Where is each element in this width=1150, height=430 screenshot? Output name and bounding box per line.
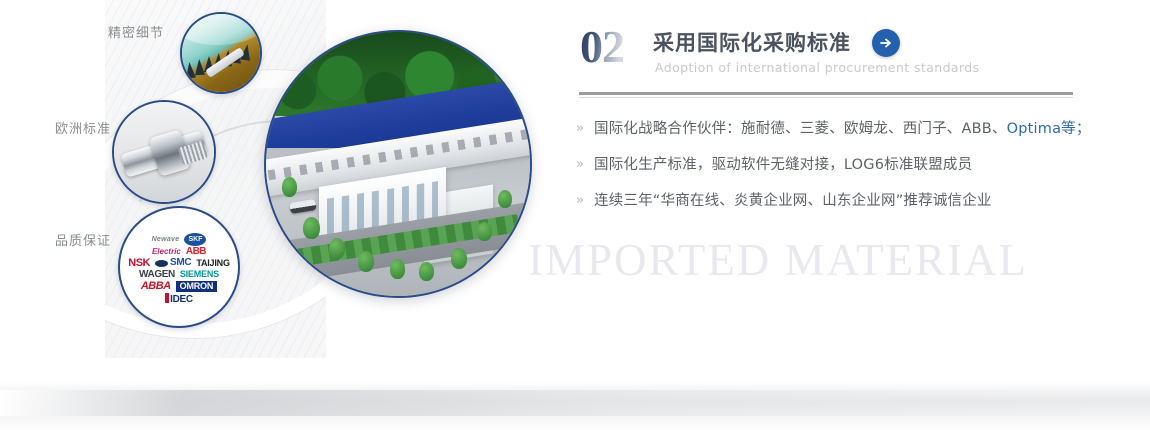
list-item: » 国际化生产标准，驱动软件无缝对接，LOG6标准联盟成员 [576, 154, 1096, 176]
european-standard-photo-circle [112, 100, 216, 204]
brand-logo-nsk: NSK [128, 258, 150, 269]
brand-logo-idec: IDEC [165, 293, 193, 305]
content-column: 02 采用国际化采购标准 Adoption of international p… [576, 0, 1136, 430]
label-quality-assurance: 品质保证 [55, 230, 111, 249]
list-item-highlight: Optima等； [1007, 121, 1091, 137]
arrow-right-icon[interactable] [872, 29, 900, 57]
smc-mark-icon [155, 260, 168, 267]
hero-tree [451, 248, 467, 269]
hero-tree [477, 222, 492, 241]
label-precision-detail: 精密细节 [108, 22, 164, 41]
brand-logo-smc: SMC [170, 258, 191, 268]
hero-tree [358, 251, 374, 272]
label-european-standard: 欧洲标准 [55, 118, 111, 137]
section-header: 02 采用国际化采购标准 Adoption of international p… [576, 24, 1096, 82]
brand-logo-electric: Electric [152, 248, 181, 256]
section-number: 02 [580, 24, 624, 70]
bullet-chevron-icon: » [576, 190, 594, 212]
brand-logo-abba: ABBA [141, 281, 171, 292]
watermark-text: IMPORTED MATERIAL [528, 234, 1148, 286]
list-item-lead: 国际化战略合作伙伴：施耐德、三菱、欧姆龙、西门子、ABB、 [594, 121, 1007, 137]
hero-tree [419, 262, 434, 281]
list-item-text: 国际化战略合作伙伴：施耐德、三菱、欧姆龙、西门子、ABB、Optima等； [594, 118, 1091, 140]
header-divider [579, 92, 1073, 98]
brand-logo-newave: Newave [152, 236, 180, 243]
list-item-text: 国际化生产标准，驱动软件无缝对接，LOG6标准联盟成员 [594, 154, 972, 176]
list-item: » 连续三年“华商在线、炎黄企业网、山东企业网”推荐诚信企业 [576, 190, 1096, 212]
hero-tree [282, 177, 297, 197]
list-item-text: 连续三年“华商在线、炎黄企业网、山东企业网”推荐诚信企业 [594, 190, 992, 212]
list-item: » 国际化战略合作伙伴：施耐德、三菱、欧姆龙、西门子、ABB、Optima等； [576, 118, 1096, 140]
brand-logo-abb: ABB [186, 247, 206, 257]
brand-logo-wagen: WAGEN [139, 270, 175, 280]
bullet-chevron-icon: » [576, 118, 594, 140]
section-title: 采用国际化采购标准 [653, 27, 851, 57]
brand-logo-omron: OMRON [176, 281, 218, 292]
brand-logo-skf: SKF [184, 233, 206, 246]
promo-banner: Newave SKF Electric ABB NSK SMC TAIJING … [0, 0, 1150, 430]
bullet-chevron-icon: » [576, 154, 594, 176]
brand-logo-siemens: SIEMENS [180, 270, 219, 279]
brand-logo-taijing: TAIJING [196, 259, 229, 268]
brand-logo-grid: Newave SKF Electric ABB NSK SMC TAIJING … [120, 208, 238, 326]
hero-tree [303, 217, 320, 239]
section-subtitle: Adoption of international procurement st… [655, 60, 980, 75]
factory-photo-circle [264, 30, 532, 298]
bottom-shadow-band [0, 382, 1150, 430]
precision-detail-photo-circle [180, 12, 262, 94]
feature-list: » 国际化战略合作伙伴：施耐德、三菱、欧姆龙、西门子、ABB、Optima等； … [576, 118, 1096, 226]
hero-tree [329, 238, 345, 259]
hero-tree [390, 259, 405, 279]
quality-assurance-logos-circle: Newave SKF Electric ABB NSK SMC TAIJING … [118, 206, 240, 328]
